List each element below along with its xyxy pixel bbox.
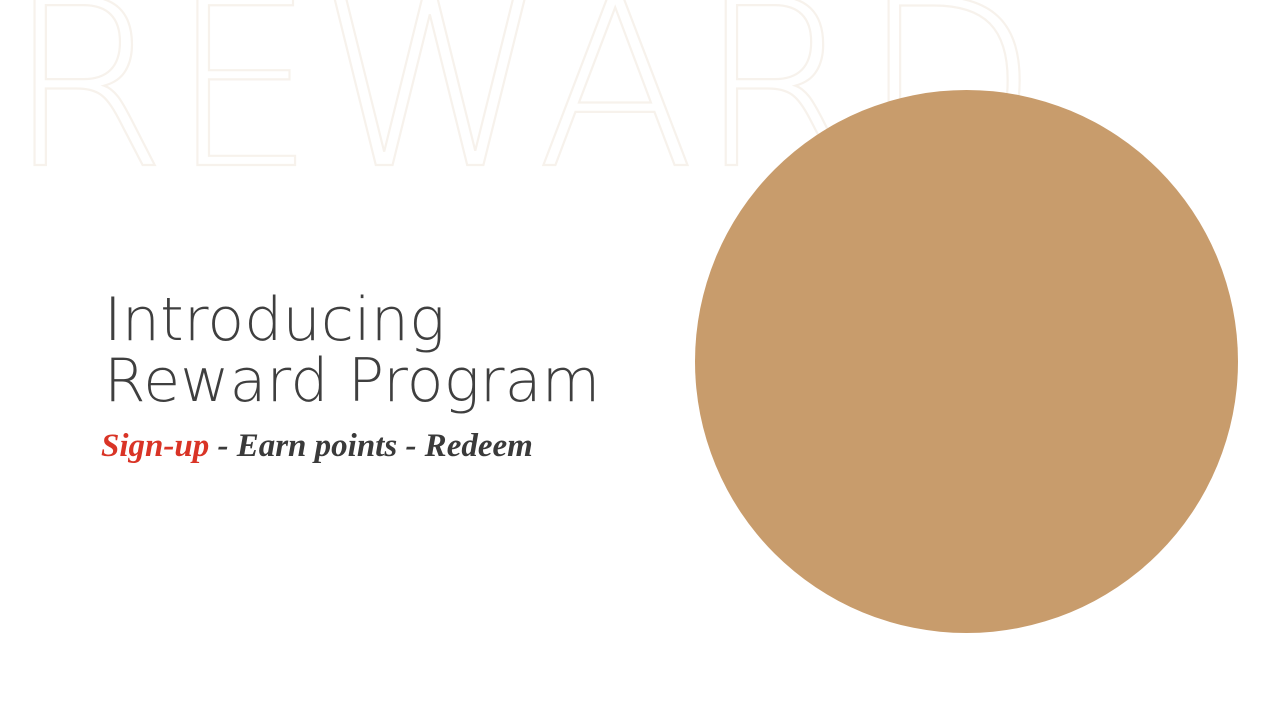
tan-circle-decoration	[695, 90, 1238, 633]
page-title: Introducing Reward Program	[104, 290, 664, 412]
subtitle: Sign-up - Earn points - Redeem	[101, 428, 664, 464]
text-block: Introducing Reward Program Sign-up - Ear…	[104, 290, 664, 464]
subtitle-rest: - Earn points - Redeem	[209, 428, 533, 464]
headline-line-1: Introducing	[104, 290, 664, 351]
subtitle-accent-signup: Sign-up	[101, 428, 209, 464]
headline-line-2: Reward Program	[104, 351, 664, 412]
slide-canvas: REWARDS Introducing Reward Program Sign-…	[0, 0, 1280, 720]
